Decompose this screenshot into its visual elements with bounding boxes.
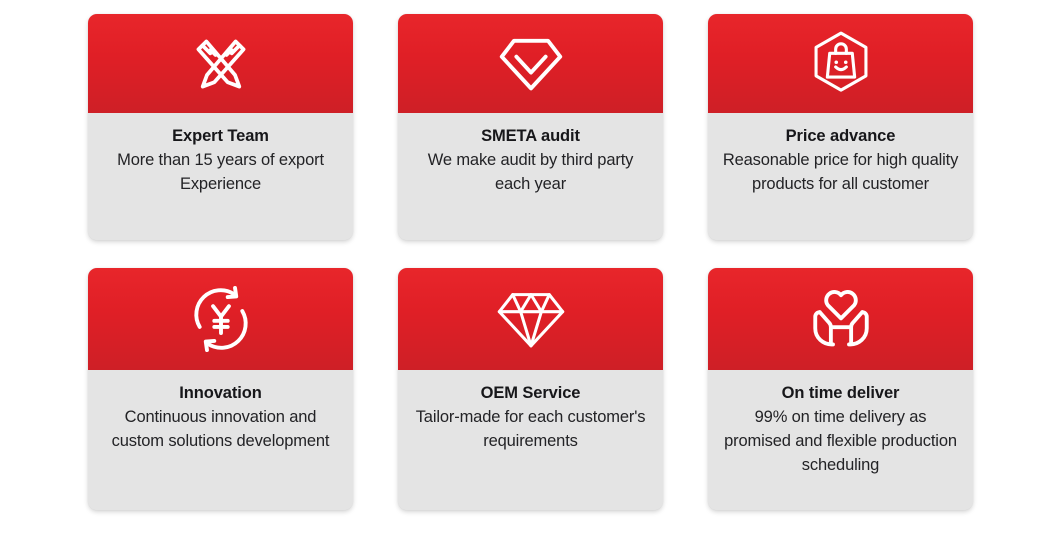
- diamond-icon: [492, 280, 570, 358]
- crossed-pencils-icon: [182, 25, 260, 103]
- features-board: Expert Team More than 15 years of export…: [0, 0, 1060, 542]
- card-title: Innovation: [179, 383, 261, 404]
- card-header-expert-team: [88, 14, 353, 113]
- hexagon-shopping-bag-icon: [803, 26, 879, 102]
- card-description: Tailor-made for each customer's requirem…: [410, 406, 651, 454]
- card-body-smeta-audit: SMETA audit We make audit by third party…: [398, 113, 663, 240]
- card-description: We make audit by third party each year: [410, 149, 651, 197]
- card-body-expert-team: Expert Team More than 15 years of export…: [88, 113, 353, 240]
- card-description: Continuous innovation and custom solutio…: [100, 406, 341, 454]
- feature-card-price-advance[interactable]: Price advance Reasonable price for high …: [708, 14, 973, 240]
- card-header-innovation: [88, 268, 353, 370]
- card-description: More than 15 years of export Experience: [117, 149, 324, 197]
- card-description: Reasonable price for high quality produc…: [720, 149, 961, 197]
- yen-refresh-icon: [182, 280, 260, 358]
- gem-check-icon: [492, 25, 570, 103]
- card-header-on-time-deliver: [708, 268, 973, 370]
- card-body-on-time-deliver: On time deliver 99% on time delivery as …: [708, 370, 973, 510]
- features-grid: Expert Team More than 15 years of export…: [88, 14, 973, 510]
- feature-card-expert-team[interactable]: Expert Team More than 15 years of export…: [88, 14, 353, 240]
- card-body-oem-service: OEM Service Tailor-made for each custome…: [398, 370, 663, 510]
- card-title: OEM Service: [481, 383, 581, 404]
- card-header-smeta-audit: [398, 14, 663, 113]
- card-title: On time deliver: [782, 383, 900, 404]
- feature-card-smeta-audit[interactable]: SMETA audit We make audit by third party…: [398, 14, 663, 240]
- card-header-oem-service: [398, 268, 663, 370]
- card-title: Price advance: [786, 126, 896, 147]
- feature-card-innovation[interactable]: Innovation Continuous innovation and cus…: [88, 268, 353, 510]
- feature-card-oem-service[interactable]: OEM Service Tailor-made for each custome…: [398, 268, 663, 510]
- card-body-innovation: Innovation Continuous innovation and cus…: [88, 370, 353, 510]
- card-body-price-advance: Price advance Reasonable price for high …: [708, 113, 973, 240]
- card-description: 99% on time delivery as promised and fle…: [720, 406, 961, 478]
- feature-card-on-time-deliver[interactable]: On time deliver 99% on time delivery as …: [708, 268, 973, 510]
- card-header-price-advance: [708, 14, 973, 113]
- card-title: SMETA audit: [481, 126, 580, 147]
- card-title: Expert Team: [172, 126, 269, 147]
- heart-in-hands-icon: [801, 279, 881, 359]
